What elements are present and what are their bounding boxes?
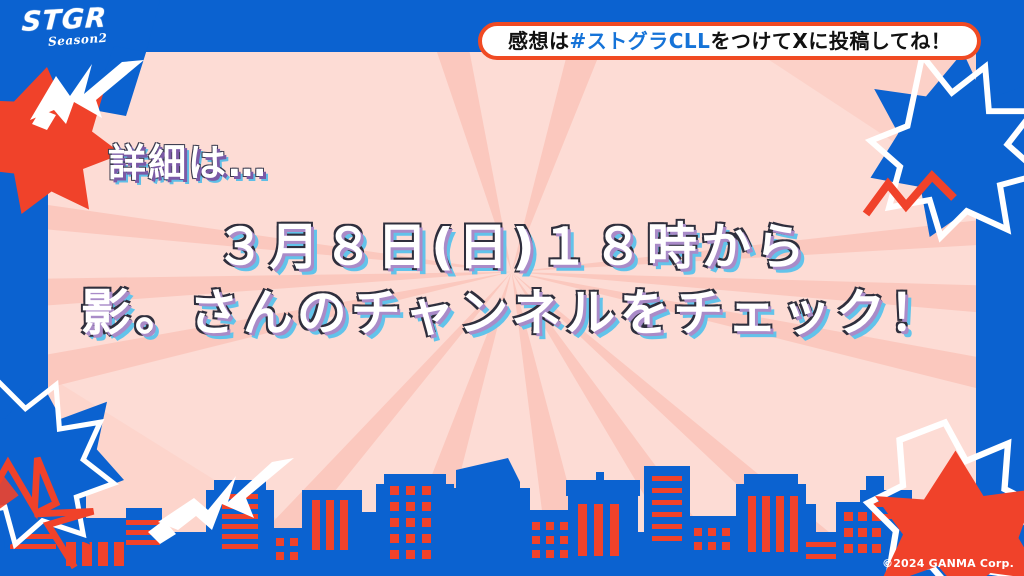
kicker-text: 詳細は… — [108, 132, 268, 187]
headline: ３月８日(日)１８時から 影。さんのチャンネルをチェック！ — [0, 214, 1024, 346]
promo-slide: STGR Season2 — [0, 0, 1024, 576]
hashtag-banner[interactable]: 感想は#ストグラCLLをつけてXに投稿してね！ — [478, 22, 981, 60]
headline-line-1: ３月８日(日)１８時から — [0, 214, 1024, 280]
banner-suffix: をつけてXに投稿してね！ — [710, 31, 951, 51]
logo-wedge — [0, 0, 400, 150]
banner-hashtag: #ストグラCLL — [570, 31, 711, 51]
copyright-notice: ©2024 GANMA Corp. — [882, 557, 1014, 570]
headline-line-2: 影。さんのチャンネルをチェック！ — [0, 280, 1024, 346]
city-skyline — [0, 446, 1024, 576]
banner-prefix: 感想は — [508, 31, 570, 51]
